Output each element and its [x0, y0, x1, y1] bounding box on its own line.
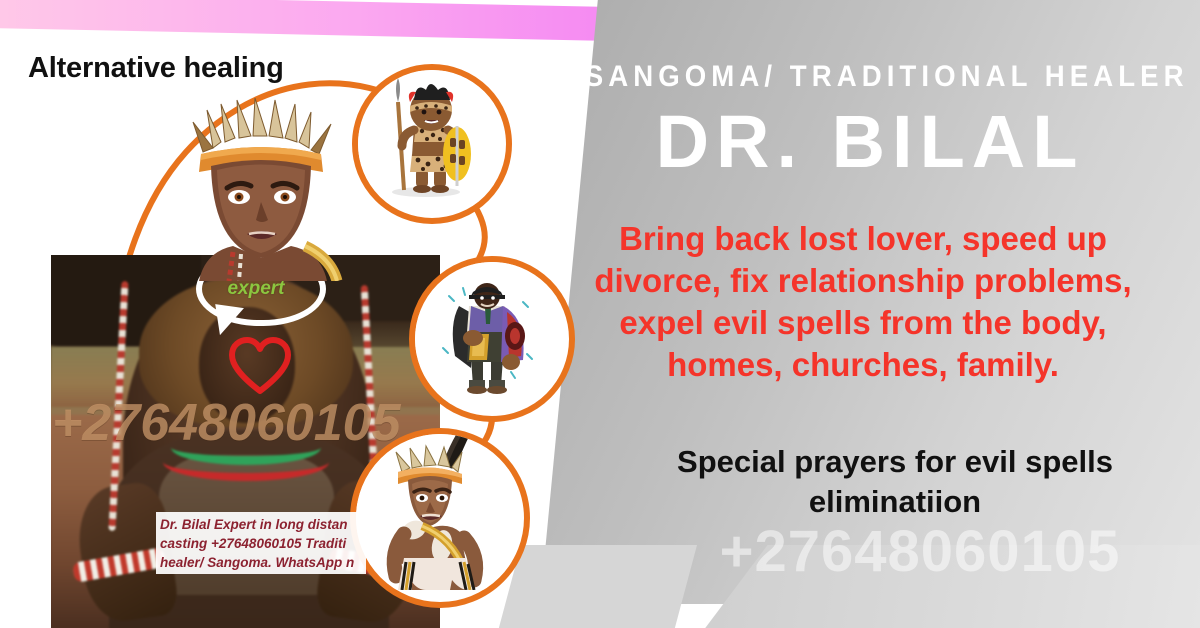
kicker-headline: SANGOMA/ TRADITIONAL HEALER: [585, 60, 1155, 94]
poster-canvas: Alternative healing: [0, 0, 1200, 628]
services-line-2: divorce, fix relationship problems,: [548, 260, 1178, 302]
photo-caption-box: Dr. Bilal Expert in long distan casting …: [156, 512, 366, 574]
special-offer-text: Special prayers for evil spells eliminat…: [600, 442, 1190, 523]
red-heart-drawing: [229, 337, 291, 395]
photo-phone-overlay: +27648060105: [52, 393, 401, 453]
services-line-1: Bring back lost lover, speed up: [548, 218, 1178, 260]
caption-line-2: casting +27648060105 Traditi: [160, 534, 362, 553]
cartoon-zulu-warrior-icon: [358, 70, 494, 206]
crouching-warrior-icon: [356, 434, 512, 590]
cloaked-sangoma-icon: [415, 262, 557, 404]
services-line-3: expel evil spells from the body,: [548, 302, 1178, 344]
circle-crouching-warrior: [350, 428, 530, 608]
services-text: Bring back lost lover, speed up divorce,…: [548, 218, 1178, 386]
speech-line-2: expert: [200, 278, 312, 300]
caption-line-1: Dr. Bilal Expert in long distan: [160, 515, 362, 534]
offer-line-1: Special prayers for evil spells: [600, 442, 1190, 482]
headdress-man-illustration: [155, 96, 370, 281]
watermark-phone-number: +27648060105: [640, 518, 1200, 585]
offer-line-2: eliminatiion: [600, 482, 1190, 522]
services-line-4: homes, churches, family.: [548, 344, 1178, 386]
caption-line-3: healer/ Sangoma. WhatsApp n: [160, 553, 362, 572]
page-title: DR. BILAL: [560, 105, 1180, 179]
circle-cartoon-warrior: [352, 64, 512, 224]
